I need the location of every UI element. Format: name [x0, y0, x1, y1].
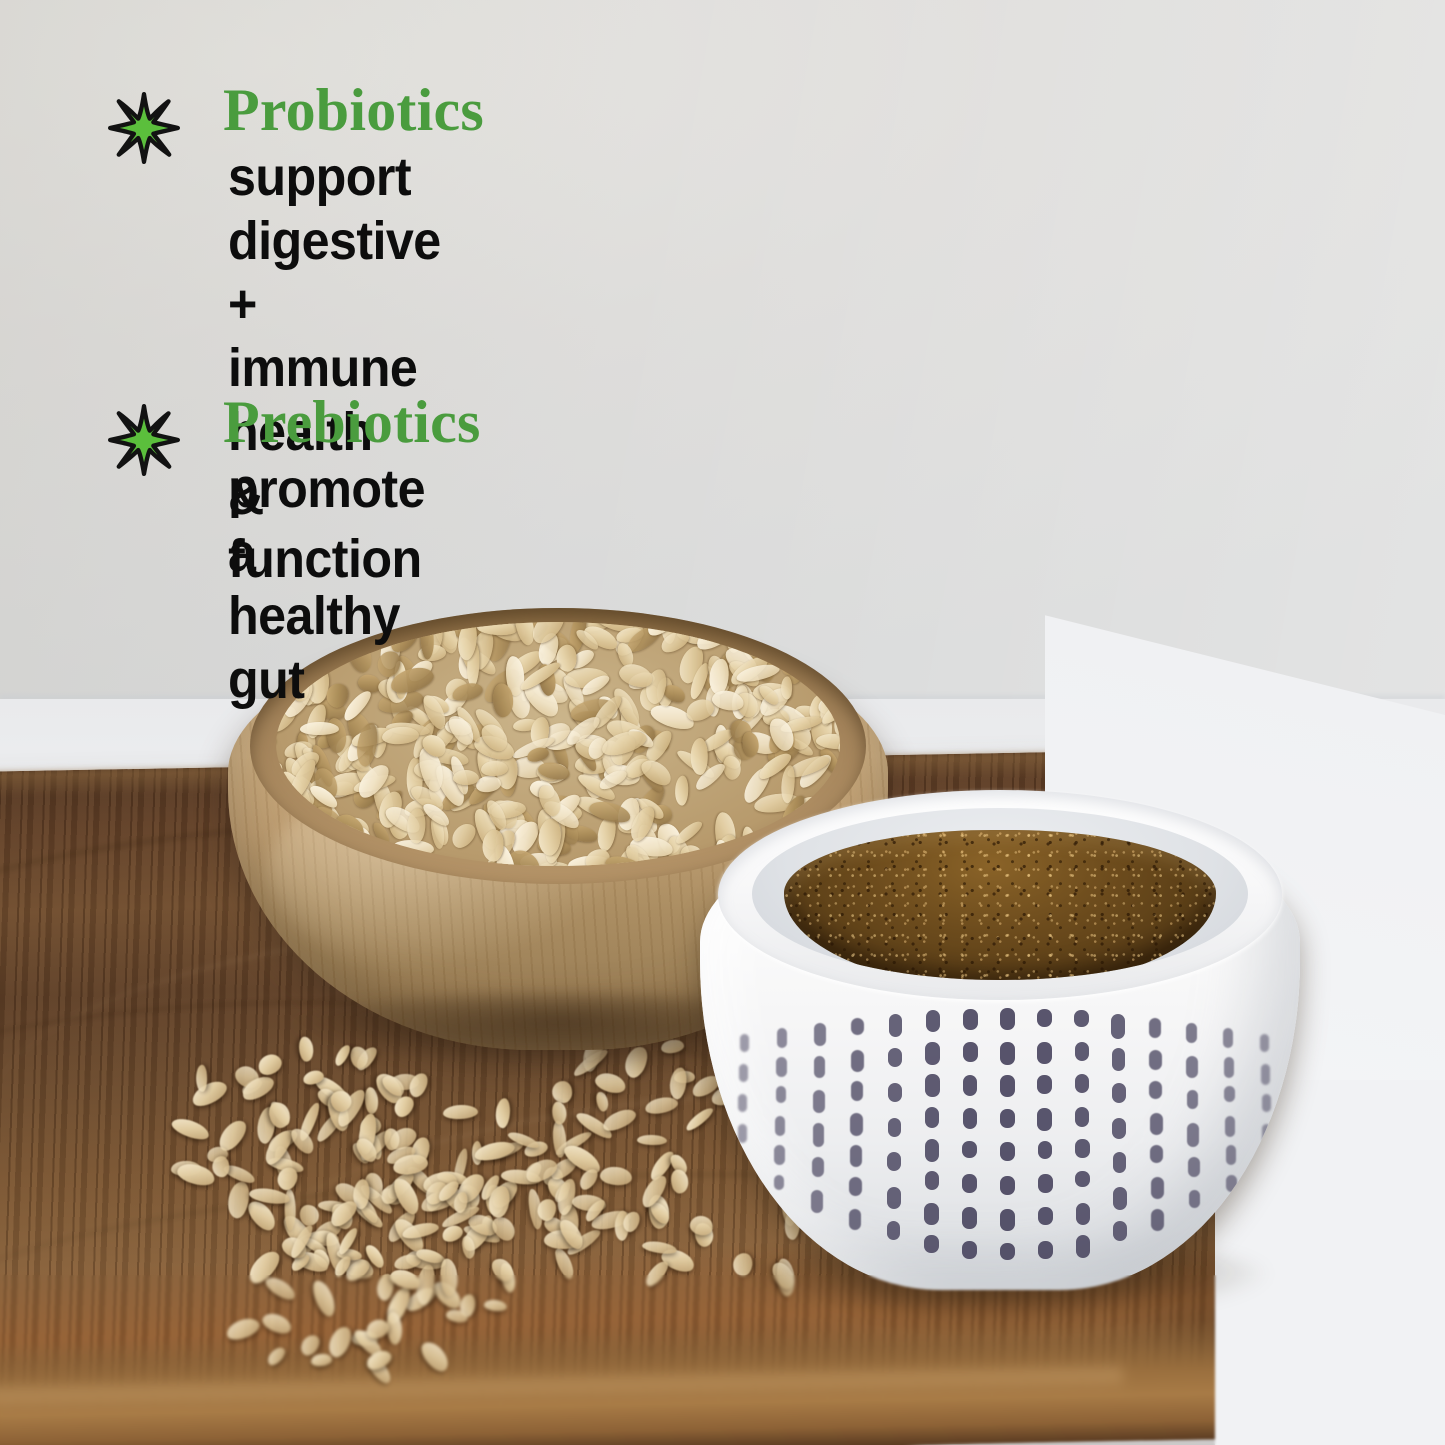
ceramic-bowl-interior	[752, 808, 1248, 980]
ceramic-dash	[1000, 1209, 1015, 1231]
ceramic-dash	[1000, 1042, 1015, 1066]
ceramic-dash	[1112, 1118, 1126, 1139]
ceramic-dash	[814, 1023, 826, 1046]
ceramic-dash	[963, 1042, 978, 1063]
ceramic-bowl-of-ground-flaxseed	[700, 790, 1300, 1300]
ceramic-dash	[1074, 1010, 1088, 1027]
ceramic-dash	[775, 1116, 785, 1136]
ceramic-dash	[850, 1113, 863, 1135]
ceramic-dash	[849, 1209, 862, 1230]
ceramic-dash	[777, 1028, 787, 1048]
ceramic-dash	[962, 1207, 977, 1228]
ceramic-dash	[1149, 1050, 1162, 1070]
ceramic-dash	[963, 1075, 978, 1096]
ceramic-dash	[1186, 1023, 1198, 1044]
ceramic-dash	[1075, 1042, 1089, 1061]
ceramic-dash	[1149, 1018, 1162, 1038]
oat-flake	[641, 1239, 677, 1255]
ceramic-dash	[1263, 1154, 1272, 1173]
ceramic-dash	[924, 1203, 938, 1225]
ceramic-dash	[1038, 1141, 1053, 1158]
ceramic-dash	[1150, 1113, 1163, 1135]
ceramic-dash	[1262, 1094, 1271, 1113]
oat-flake	[643, 1258, 673, 1289]
ceramic-dash	[1000, 1075, 1015, 1097]
ceramic-dash	[813, 1090, 825, 1113]
ceramic-dash	[1224, 1086, 1234, 1101]
ceramic-dash	[1112, 1083, 1126, 1103]
oat-flake	[196, 1065, 207, 1092]
oat-flake	[406, 808, 427, 844]
ceramic-dash	[1261, 1064, 1270, 1085]
ceramic-dash	[776, 1057, 786, 1077]
ceramic-dash	[1186, 1056, 1198, 1078]
ceramic-dash-pattern	[700, 1000, 1300, 1290]
ceramic-dash	[1113, 1221, 1127, 1241]
ceramic-dash	[888, 1118, 902, 1137]
ceramic-dash	[1076, 1203, 1090, 1225]
ceramic-dash	[888, 1083, 902, 1102]
ground-flaxseed-mound	[784, 830, 1216, 980]
ceramic-dash	[1260, 1034, 1269, 1052]
ceramic-dash	[925, 1074, 939, 1097]
ceramic-dash	[1075, 1171, 1089, 1188]
ceramic-dash	[925, 1171, 939, 1190]
oat-flake	[263, 1273, 299, 1304]
ceramic-dash	[1076, 1235, 1090, 1258]
ceramic-dash	[739, 1064, 748, 1082]
ceramic-dash	[1037, 1042, 1052, 1064]
ceramic-dash	[962, 1174, 977, 1193]
ceramic-dash	[1038, 1241, 1053, 1260]
oat-flake	[551, 1080, 572, 1103]
ceramic-dash	[851, 1050, 864, 1072]
ceramic-dash	[925, 1107, 939, 1129]
ceramic-dash	[1000, 1176, 1015, 1195]
ceramic-dash	[926, 1010, 940, 1032]
oat-flake	[310, 1353, 332, 1367]
oat-flake	[494, 1097, 511, 1128]
oat-flake	[345, 636, 376, 675]
ceramic-dash	[737, 1154, 746, 1175]
ceramic-dash	[887, 1152, 901, 1170]
oat-flake	[224, 1314, 262, 1342]
oat-flake	[225, 1179, 252, 1219]
ceramic-dash	[887, 1221, 901, 1240]
oat-flake	[417, 1338, 453, 1377]
product-benefit-graphic: Probiotics support digestive + immune he…	[0, 0, 1445, 1445]
oat-flake	[780, 676, 792, 700]
ceramic-dash	[887, 1187, 901, 1209]
oat-flake	[483, 1299, 507, 1313]
ceramic-dash	[1150, 1145, 1163, 1163]
ceramic-dash	[1038, 1207, 1053, 1224]
oat-flake	[260, 1309, 294, 1337]
ceramic-dash	[774, 1145, 784, 1165]
ceramic-dash	[1000, 1243, 1015, 1261]
oat-flake	[212, 1155, 230, 1177]
ceramic-dash	[1226, 1145, 1236, 1165]
ceramic-dash	[1000, 1109, 1015, 1129]
ceramic-dash	[850, 1145, 863, 1167]
ceramic-dash	[1111, 1014, 1125, 1039]
ceramic-dash	[1226, 1175, 1236, 1193]
ceramic-dash	[1000, 1008, 1015, 1030]
ceramic-dash	[1225, 1116, 1235, 1137]
oat-flake	[599, 1165, 633, 1187]
oat-flake	[675, 775, 690, 805]
ceramic-dash	[851, 1081, 864, 1100]
ceramic-dash	[1075, 1139, 1089, 1159]
flaxseed-texture	[784, 830, 1216, 980]
oat-flake	[169, 1115, 211, 1144]
ceramic-dash	[1187, 1090, 1199, 1109]
ceramic-dash	[889, 1014, 903, 1037]
oat-flake	[299, 1204, 319, 1226]
oat-flake	[822, 659, 840, 683]
ceramic-dash	[963, 1108, 978, 1129]
oat-flake	[442, 1104, 478, 1119]
oat-flake	[552, 1101, 568, 1125]
ceramic-dash	[963, 1009, 978, 1031]
ceramic-dash	[888, 1048, 902, 1067]
ceramic-dash	[1224, 1057, 1234, 1078]
ceramic-dash	[812, 1157, 824, 1178]
ceramic-dash	[1188, 1157, 1200, 1177]
ceramic-dash	[1038, 1174, 1053, 1193]
ceramic-dash	[1037, 1009, 1052, 1027]
ceramic-dash	[1262, 1124, 1271, 1145]
ceramic-dash	[1113, 1187, 1127, 1210]
ceramic-dash	[1000, 1142, 1015, 1161]
oat-flake	[435, 862, 482, 866]
ceramic-dash	[774, 1175, 784, 1191]
ceramic-dash	[851, 1018, 864, 1035]
oat-flake	[309, 1277, 339, 1319]
ceramic-dash	[738, 1094, 747, 1113]
ceramic-dash	[1037, 1075, 1052, 1095]
ceramic-dash	[925, 1042, 939, 1064]
ceramic-dash	[776, 1086, 786, 1103]
oat-flake	[189, 1077, 231, 1111]
oat-flake	[364, 1087, 379, 1115]
ceramic-dash	[849, 1177, 862, 1195]
ceramic-dash	[1075, 1074, 1089, 1092]
ceramic-dash	[1112, 1048, 1126, 1070]
oat-flake	[595, 1090, 610, 1112]
oat-flake	[637, 1134, 667, 1146]
ceramic-dash	[924, 1235, 938, 1253]
ceramic-dash	[962, 1241, 977, 1260]
ceramic-dash	[1151, 1177, 1164, 1199]
ceramic-dash	[1189, 1190, 1201, 1208]
oat-flake	[264, 1344, 288, 1368]
ceramic-dash	[1187, 1123, 1199, 1146]
ceramic-dash	[1149, 1081, 1162, 1099]
ceramic-dash	[738, 1124, 747, 1143]
lifestyle-photograph	[0, 0, 1445, 1445]
ceramic-dash	[740, 1034, 749, 1053]
ceramic-dash	[962, 1141, 977, 1158]
ceramic-dash	[1037, 1108, 1052, 1131]
ceramic-dash	[1113, 1152, 1127, 1173]
ceramic-dash	[813, 1123, 825, 1147]
ceramic-dash	[1151, 1209, 1164, 1230]
ceramic-dash	[811, 1190, 823, 1212]
ceramic-dash	[814, 1056, 826, 1078]
oat-flake	[300, 721, 339, 734]
ceramic-dash	[1075, 1107, 1089, 1127]
oat-flake	[667, 1066, 688, 1101]
ceramic-dash	[925, 1139, 939, 1162]
ceramic-dash	[1223, 1028, 1233, 1048]
